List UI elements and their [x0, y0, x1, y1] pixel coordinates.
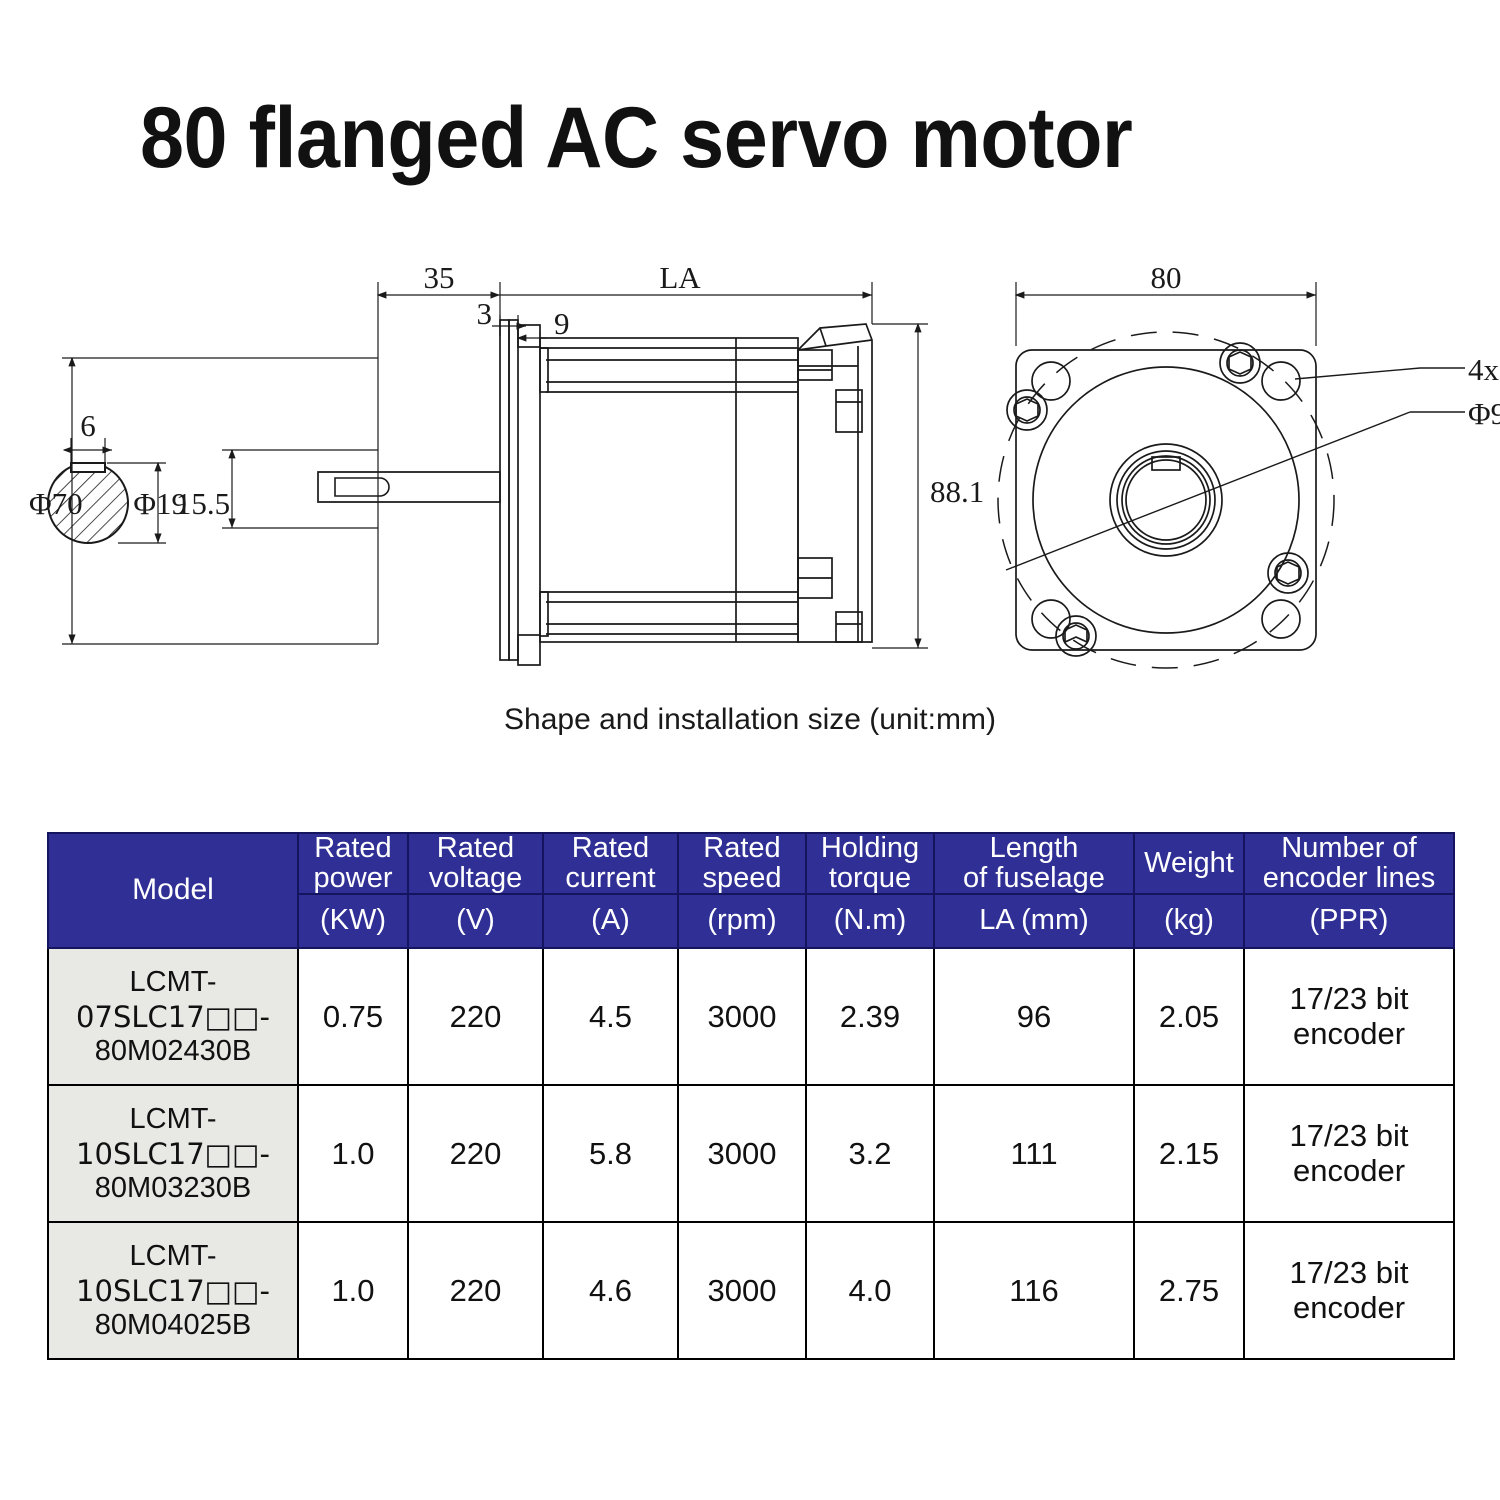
header-weight: Weight [1134, 833, 1244, 894]
header-line1: Rated [409, 834, 542, 864]
cell-rated-power: 0.75 [298, 948, 408, 1085]
unit-encoder-lines: (PPR) [1244, 894, 1454, 948]
encoder-line2: encoder [1245, 1017, 1453, 1052]
table-row: LCMT- 10SLC17□□- 80M03230B 1.0 220 5.8 3… [48, 1085, 1454, 1222]
model-line2: 10SLC17□□- [55, 1274, 291, 1308]
cell-rated-voltage: 220 [408, 1222, 543, 1359]
cell-length-la: 116 [934, 1222, 1134, 1359]
technical-drawing: 6 15.5 Φ70 Φ19 35 3 9 LA 88.1 80 4xΦ6.5 … [0, 240, 1500, 700]
header-length-fuselage: Length of fuselage [934, 833, 1134, 894]
model-line3: 80M03230B [55, 1171, 291, 1205]
dim-shaft-dia: Φ19 [133, 486, 187, 521]
model-line3: 80M04025B [55, 1308, 291, 1342]
cell-length-la: 96 [934, 948, 1134, 1085]
motor-end-view [998, 332, 1465, 668]
cell-model: LCMT- 07SLC17□□- 80M02430B [48, 948, 298, 1085]
table-header-row-name: Model Rated power Rated voltage Rated cu… [48, 833, 1454, 894]
cell-encoder: 17/23 bit encoder [1244, 948, 1454, 1085]
header-line2: speed [679, 864, 805, 894]
unit-rated-current: (A) [543, 894, 678, 948]
encoder-line1: 17/23 bit [1245, 982, 1453, 1017]
cell-weight: 2.05 [1134, 948, 1244, 1085]
header-line1: Rated [544, 834, 677, 864]
unit-rated-speed: (rpm) [678, 894, 806, 948]
header-line1: Rated [679, 834, 805, 864]
cell-holding-torque: 4.0 [806, 1222, 934, 1359]
unit-rated-power: (KW) [298, 894, 408, 948]
dim-frame-width: 80 [1151, 260, 1182, 295]
model-line1: LCMT- [55, 1102, 291, 1136]
cell-length-la: 111 [934, 1085, 1134, 1222]
table-row: LCMT- 10SLC17□□- 80M04025B 1.0 220 4.6 3… [48, 1222, 1454, 1359]
model-line3: 80M02430B [55, 1034, 291, 1068]
encoder-line2: encoder [1245, 1154, 1453, 1189]
encoder-line1: 17/23 bit [1245, 1119, 1453, 1154]
cell-rated-power: 1.0 [298, 1222, 408, 1359]
header-line2: encoder lines [1245, 864, 1453, 894]
header-line2: power [299, 864, 407, 894]
cell-rated-voltage: 220 [408, 1085, 543, 1222]
header-line1: Holding [807, 834, 933, 864]
cell-model: LCMT- 10SLC17□□- 80M04025B [48, 1222, 298, 1359]
cell-rated-current: 4.6 [543, 1222, 678, 1359]
header-rated-current: Rated current [543, 833, 678, 894]
header-line1: Weight [1135, 849, 1243, 879]
dim-body-length: LA [659, 260, 701, 295]
header-rated-power: Rated power [298, 833, 408, 894]
model-line2: 07SLC17□□- [55, 1000, 291, 1034]
model-line2: 10SLC17□□- [55, 1137, 291, 1171]
specification-table: Model Rated power Rated voltage Rated cu… [47, 832, 1453, 1360]
hex-socket-screws [1007, 343, 1308, 656]
cell-holding-torque: 3.2 [806, 1085, 934, 1222]
header-model: Model [48, 833, 298, 948]
cell-rated-current: 5.8 [543, 1085, 678, 1222]
drawing-caption: Shape and installation size (unit:mm) [0, 703, 1500, 737]
motor-side-view [318, 320, 872, 665]
cell-holding-torque: 2.39 [806, 948, 934, 1085]
dim-step-3: 3 [477, 296, 493, 331]
header-rated-voltage: Rated voltage [408, 833, 543, 894]
header-line2: voltage [409, 864, 542, 894]
cell-rated-power: 1.0 [298, 1085, 408, 1222]
header-line1: Length [935, 834, 1133, 864]
cell-model: LCMT- 10SLC17□□- 80M03230B [48, 1085, 298, 1222]
cell-rated-voltage: 220 [408, 948, 543, 1085]
dim-flange-dia: Φ70 [29, 486, 83, 521]
cell-rated-speed: 3000 [678, 1085, 806, 1222]
table-row: LCMT- 07SLC17□□- 80M02430B 0.75 220 4.5 … [48, 948, 1454, 1085]
header-line1: Number of [1245, 834, 1453, 864]
header-line1: Rated [299, 834, 407, 864]
header-encoder-lines: Number of encoder lines [1244, 833, 1454, 894]
dim-mount-holes: 4xΦ6.5 [1468, 352, 1500, 387]
dim-key-width: 6 [80, 408, 96, 443]
cell-weight: 2.75 [1134, 1222, 1244, 1359]
model-line1: LCMT- [55, 1239, 291, 1273]
dim-height: 88.1 [930, 474, 984, 509]
dim-front-length: 35 [424, 260, 455, 295]
encoder-line1: 17/23 bit [1245, 1256, 1453, 1291]
unit-holding-torque: (N.m) [806, 894, 934, 948]
drawing-canvas: 6 15.5 Φ70 Φ19 35 3 9 LA 88.1 80 4xΦ6.5 … [0, 240, 1500, 700]
model-line1: LCMT- [55, 965, 291, 999]
header-line2: of fuselage [935, 864, 1133, 894]
header-line2: torque [807, 864, 933, 894]
cell-rated-speed: 3000 [678, 1222, 806, 1359]
cell-rated-current: 4.5 [543, 948, 678, 1085]
dim-bolt-circle: Φ90 [1468, 396, 1500, 431]
unit-rated-voltage: (V) [408, 894, 543, 948]
unit-weight: (kg) [1134, 894, 1244, 948]
header-rated-speed: Rated speed [678, 833, 806, 894]
encoder-line2: encoder [1245, 1291, 1453, 1326]
header-holding-torque: Holding torque [806, 833, 934, 894]
cell-encoder: 17/23 bit encoder [1244, 1085, 1454, 1222]
cell-weight: 2.15 [1134, 1085, 1244, 1222]
cell-rated-speed: 3000 [678, 948, 806, 1085]
dim-step-9: 9 [554, 306, 570, 341]
header-line2: current [544, 864, 677, 894]
page-title: 80 flanged AC servo motor [140, 88, 1281, 188]
unit-length-fuselage: LA (mm) [934, 894, 1134, 948]
cell-encoder: 17/23 bit encoder [1244, 1222, 1454, 1359]
